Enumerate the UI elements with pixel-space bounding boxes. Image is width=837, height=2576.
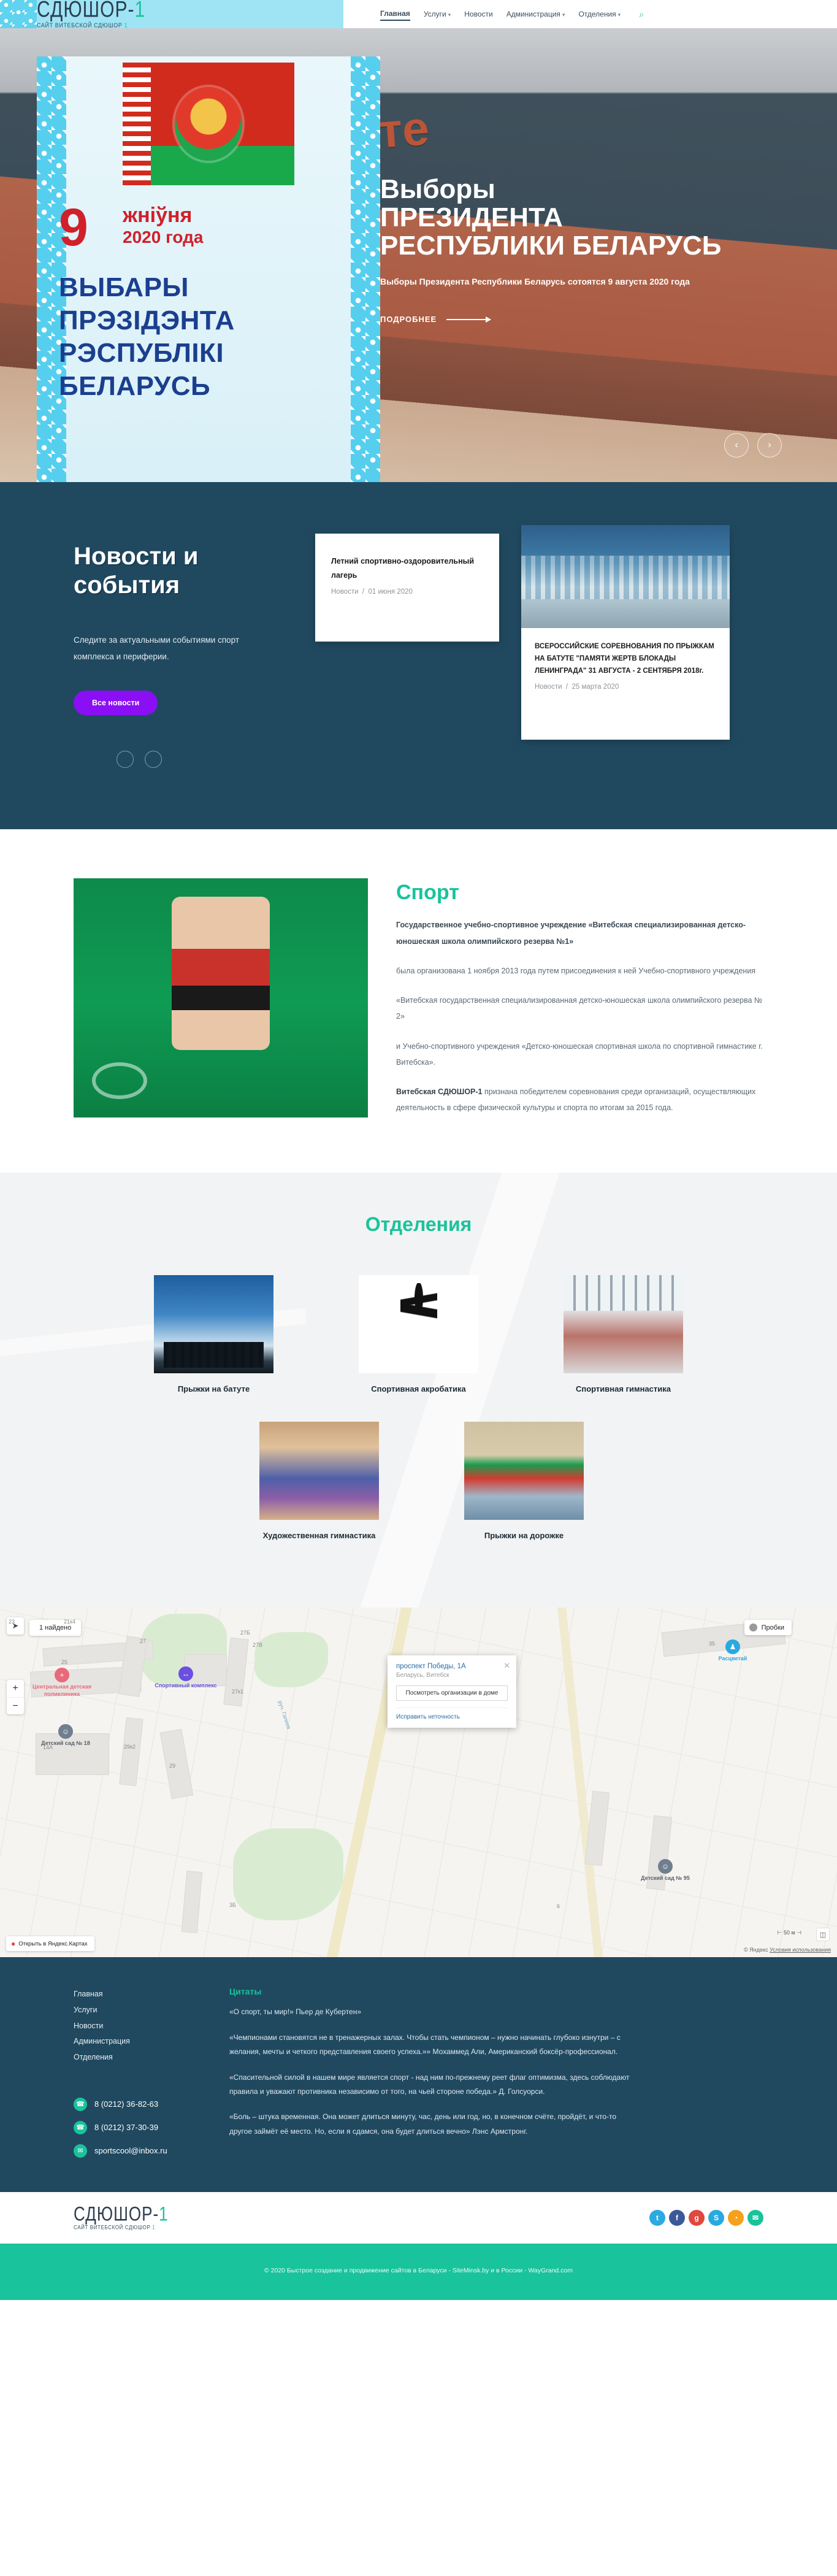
banner-date: жнiўня 2020 года (123, 204, 203, 247)
facebook-icon[interactable]: f (669, 2210, 685, 2226)
quote-item: «Чемпионами становятся не в тренажерных … (229, 2031, 638, 2060)
map-copyright: © Яндекс Условия использования (744, 1947, 831, 1953)
copyright-text: © 2020 Быстрое создание и продвижение са… (264, 2267, 573, 2274)
map-house-number: 27к1 (232, 1689, 243, 1695)
kindergarten-icon: ☺ (58, 1724, 73, 1739)
map-zoom-controls: + − (7, 1680, 24, 1714)
map-house-number: 6 (557, 1903, 560, 1909)
copyright-bar: © 2020 Быстрое создание и продвижение са… (0, 2244, 837, 2300)
arrow-right-icon (446, 319, 491, 320)
map-house-number: 25 (61, 1659, 67, 1665)
news-card[interactable]: ВСЕРОССИЙСКИЕ СОРЕВНОВАНИЯ ПО ПРЫЖКАМ НА… (521, 525, 730, 740)
view-organizations-button[interactable]: Посмотреть организации в доме (396, 1685, 508, 1701)
map-house-number: 3Б (229, 1902, 236, 1908)
departments-row: Художественная гимнастика Прыжки на доро… (0, 1422, 837, 1540)
chevron-down-icon: ▾ (562, 12, 565, 18)
footer-contacts: ☎ 8 (0212) 36-82-63 ☎ 8 (0212) 37-30-39 … (74, 2098, 196, 2158)
footer-link-administration[interactable]: Администрация (74, 2034, 196, 2050)
quote-item: «О спорт, ты мир!» Пьер де Кубертен» (229, 2005, 638, 2019)
news-card-title: Летний спортивно-оздоровительный лагерь (331, 554, 483, 582)
hero-slider: на батуте 9 жнiўня 2020 года ВЫБАРЫ ПРЭЗ… (0, 28, 837, 482)
map-pin-icon: ● (11, 1939, 15, 1948)
hero-subtitle: Выборы Президента Республики Беларусь со… (380, 274, 748, 289)
rss-icon[interactable]: ◔ (728, 2210, 744, 2226)
quote-item: «Боль – штука временная. Она может длить… (229, 2110, 638, 2139)
map-park-area (233, 1828, 343, 1920)
nav-item-news[interactable]: Новости (464, 8, 492, 20)
tumbling-image (464, 1422, 584, 1520)
department-label: Прыжки на дорожке (441, 1531, 607, 1540)
map-poi-kindergarten-18[interactable]: ☺ Детский сад № 18 (32, 1724, 99, 1747)
report-inaccuracy-link[interactable]: Исправить неточность (396, 1714, 508, 1720)
departments-section: Отделения Прыжки на батуте Спортивная ак… (0, 1173, 837, 1608)
chevron-down-icon: ▾ (618, 12, 621, 18)
balloon-title[interactable]: проспект Победы, 1А (396, 1663, 508, 1670)
map-house-number: 29к2 (124, 1744, 136, 1750)
map-poi-kindergarten-95[interactable]: ☺ Детский сад № 95 (638, 1859, 693, 1882)
footer-link-departments[interactable]: Отделения (74, 2050, 196, 2066)
ornament-pattern-left (0, 0, 37, 28)
hero-title-line1: Выборы (380, 175, 785, 204)
shop-icon: ♟ (725, 1639, 740, 1654)
sport-paragraph-4: Витебская СДЮШОР-1 признана победителем … (396, 1084, 764, 1116)
hero-slider-controls: ‹ › (724, 433, 782, 458)
map-address-balloon: ✕ проспект Победы, 1А Беларусь, Витебск … (388, 1655, 516, 1728)
main-navigation: Главная Услуги▾ Новости Администрация▾ О… (380, 7, 644, 21)
site-header: СДЮШОР-1 САЙТ ВИТЕБСКОЙ СДЮШОР 1 Главная… (0, 0, 837, 28)
footer-logo-title: СДЮШОР-1 (74, 2203, 169, 2223)
close-icon[interactable]: ✕ (503, 1661, 510, 1671)
sport-complex-icon: ↔ (178, 1666, 193, 1681)
map-house-number: 21к4 (64, 1619, 75, 1625)
email-icon: ✉ (74, 2144, 87, 2158)
open-in-yandex-maps-button[interactable]: ● Открыть в Яндекс.Картах (6, 1936, 94, 1951)
department-acrobatics[interactable]: Спортивная акробатика (336, 1275, 502, 1393)
ruler-icon[interactable]: ◫ (816, 1928, 830, 1941)
kindergarten-icon: ☺ (658, 1859, 673, 1874)
banner-ornament-right (351, 56, 380, 482)
logo-title: СДЮШОР-1 (37, 0, 145, 21)
map-house-number: 27В (253, 1642, 262, 1648)
news-card-title: ВСЕРОССИЙСКИЕ СОРЕВНОВАНИЯ ПО ПРЫЖКАМ НА… (535, 640, 716, 677)
nav-item-departments[interactable]: Отделения▾ (578, 8, 621, 20)
banner-headline: ВЫБАРЫ ПРЭЗІДЭНТА РЭСПУБЛІКІ БЕЛАРУСЬ (59, 271, 358, 403)
belarus-flag-icon (123, 63, 294, 185)
zoom-out-button[interactable]: − (7, 1697, 24, 1714)
nav-item-home[interactable]: Главная (380, 7, 410, 21)
contact-email[interactable]: ✉ sportscool@inbox.ru (74, 2144, 196, 2158)
site-footer: Главная Услуги Новости Администрация Отд… (0, 1957, 837, 2191)
news-card-image (521, 525, 730, 628)
department-label: Спортивная акробатика (336, 1384, 502, 1393)
nav-item-services[interactable]: Услуги▾ (424, 8, 451, 20)
phone-icon: ☎ (74, 2098, 87, 2111)
department-rhythmic-gymnastics[interactable]: Художественная гимнастика (237, 1422, 402, 1540)
chevron-down-icon: ▾ (448, 12, 451, 18)
news-dot-1[interactable] (117, 751, 134, 768)
site-logo[interactable]: СДЮШОР-1 САЙТ ВИТЕБСКОЙ СДЮШОР 1 (0, 0, 343, 28)
departments-title: Отделения (0, 1213, 837, 1236)
trampoline-image (154, 1275, 273, 1373)
contact-phone-1[interactable]: ☎ 8 (0212) 36-82-63 (74, 2098, 196, 2111)
sport-paragraph-1: была организована 1 ноября 2013 года пут… (396, 963, 764, 979)
footer-bottom-bar: СДЮШОР-1 САЙТ ВИТЕБСКОЙ СДЮШОР 1 t f g S… (0, 2192, 837, 2244)
department-label: Спортивная гимнастика (541, 1384, 706, 1393)
hero-more-button[interactable]: ПОДРОБНЕЕ (380, 315, 491, 324)
gymnastics-image (564, 1275, 683, 1373)
map-poi-clinic[interactable]: + Центральная детская поликлиника (28, 1668, 96, 1698)
footer-logo[interactable]: СДЮШОР-1 САЙТ ВИТЕБСКОЙ СДЮШОР 1 (74, 2206, 169, 2230)
map-poi-sport-complex[interactable]: ↔ Спортивный комплекс (152, 1666, 220, 1689)
department-tumbling[interactable]: Прыжки на дорожке (441, 1422, 607, 1540)
hero-title-line2: ПРЕЗИДЕНТА (380, 204, 785, 232)
rhythmic-gymnastics-image (259, 1422, 379, 1520)
footer-quotes: Цитаты «О спорт, ты мир!» Пьер де Куберт… (196, 1987, 638, 2167)
news-section-description: Следите за актуальными событиями спорт к… (74, 632, 264, 665)
divider (396, 1708, 508, 1708)
map-house-number: 27Б (240, 1630, 250, 1636)
twitter-icon[interactable]: t (649, 2210, 665, 2226)
footer-link-news[interactable]: Новости (74, 2018, 196, 2034)
slider-next-button[interactable]: › (757, 433, 782, 458)
department-artistic-gymnastics[interactable]: Спортивная гимнастика (541, 1275, 706, 1393)
news-slider-dots (74, 751, 307, 768)
news-card-meta: Новости / 01 июня 2020 (331, 588, 483, 596)
traffic-icon (749, 1623, 757, 1631)
department-trampoline[interactable]: Прыжки на батуте (131, 1275, 297, 1393)
logo-subtitle: САЙТ ВИТЕБСКОЙ СДЮШОР 1 (37, 21, 145, 28)
map-park-area (254, 1632, 328, 1687)
news-card-meta: Новости / 25 марта 2020 (535, 683, 716, 691)
footer-nav: Главная Услуги Новости Администрация Отд… (74, 1987, 196, 2167)
mail-icon[interactable]: ✉ (747, 2210, 763, 2226)
zoom-in-button[interactable]: + (7, 1680, 24, 1697)
quotes-heading: Цитаты (229, 1987, 638, 1996)
map-house-number: 14А (43, 1744, 53, 1750)
google-plus-icon[interactable]: g (689, 2210, 705, 2226)
footer-link-services[interactable]: Услуги (74, 2003, 196, 2018)
search-icon[interactable]: ⌕ (639, 9, 644, 20)
athlete-figure (172, 897, 270, 1050)
social-links: t f g S ◔ ✉ (649, 2210, 763, 2226)
election-banner[interactable]: 9 жнiўня 2020 года ВЫБАРЫ ПРЭЗІДЭНТА РЭС… (37, 56, 380, 482)
news-card-list: Летний спортивно-оздоровительный лагерь … (307, 525, 800, 768)
olympic-ring-decor (92, 1062, 147, 1099)
all-news-button[interactable]: Все новости (74, 691, 158, 715)
map-house-number: 29 (169, 1763, 175, 1769)
footer-logo-subtitle: САЙТ ВИТЕБСКОЙ СДЮШОР 1 (74, 2224, 169, 2230)
slider-prev-button[interactable]: ‹ (724, 433, 749, 458)
sport-section-title: Спорт (396, 881, 764, 905)
map-scale-bar: ⊢ 50 м ⊣ (778, 1930, 801, 1936)
traffic-toggle[interactable]: Пробки (744, 1620, 792, 1635)
terms-link[interactable]: Условия использования (770, 1947, 831, 1953)
contact-phone-2[interactable]: ☎ 8 (0212) 37-30-39 (74, 2121, 196, 2134)
hero-title-line3: РЕСПУБЛИКИ БЕЛАРУСЬ (380, 232, 785, 260)
yandex-map[interactable]: ➤ 1 найдено + − Пробки + Центральная дет… (0, 1608, 837, 1957)
news-card[interactable]: Летний спортивно-оздоровительный лагерь … (315, 534, 499, 642)
skype-icon[interactable]: S (708, 2210, 724, 2226)
hero-caption: Выборы ПРЕЗИДЕНТА РЕСПУБЛИКИ БЕЛАРУСЬ Вы… (380, 175, 785, 325)
balloon-subtitle: Беларусь, Витебск (396, 1672, 508, 1679)
department-label: Художественная гимнастика (237, 1531, 402, 1540)
nav-item-administration[interactable]: Администрация▾ (506, 8, 565, 20)
footer-link-home[interactable]: Главная (74, 1987, 196, 2003)
phone-icon: ☎ (74, 2121, 87, 2134)
banner-day-number: 9 (59, 197, 88, 258)
belarus-emblem-icon (175, 87, 242, 161)
map-house-number: 23 (9, 1619, 15, 1625)
department-label: Прыжки на батуте (131, 1384, 297, 1393)
banner-ornament-left (37, 56, 66, 482)
sport-lead-text: Государственное учебно-спортивное учрежд… (396, 917, 764, 949)
news-dot-2[interactable] (145, 751, 162, 768)
sport-paragraph-3: и Учебно-спортивного учреждения «Детско-… (396, 1038, 764, 1071)
sport-paragraph-2: «Витебская государственная специализиров… (396, 992, 764, 1025)
map-house-number: 27 (140, 1638, 146, 1644)
departments-row: Прыжки на батуте Спортивная акробатика С… (0, 1275, 837, 1393)
news-section-title: Новости и события (74, 542, 307, 600)
map-house-number: 35 (709, 1641, 715, 1647)
acrobatics-image (359, 1275, 478, 1373)
sport-photo (74, 878, 368, 1117)
quote-item: «Спасительной силой в нашем мире являетс… (229, 2071, 638, 2099)
sport-section: Спорт Государственное учебно-спортивное … (0, 829, 837, 1173)
hospital-icon: + (55, 1668, 69, 1682)
news-section: Новости и события Следите за актуальными… (0, 482, 837, 829)
